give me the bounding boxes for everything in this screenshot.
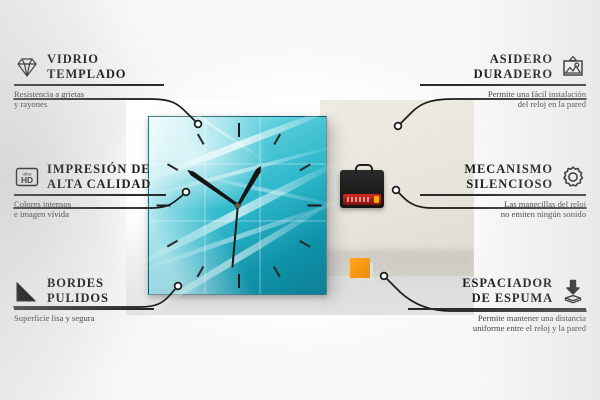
feature-title: VIDRIO TEMPLADO <box>47 52 126 81</box>
battery-label <box>347 197 371 202</box>
feature-divider <box>14 84 164 86</box>
feature-divider <box>420 194 586 196</box>
feature-title: IMPRESIÓN DE ALTA CALIDAD <box>47 162 151 191</box>
feature-mecanismo-silencioso: MECANISMO SILENCIOSO Las manecillas del … <box>420 162 586 219</box>
feature-title: ESPACIADOR DE ESPUMA <box>462 276 553 305</box>
clock-tick <box>196 134 203 145</box>
infographic-canvas: VIDRIO TEMPLADO Resistencia a grietas y … <box>0 0 600 400</box>
feature-divider <box>408 308 586 310</box>
clock-center-cap <box>235 203 240 208</box>
panel-grid-line <box>259 117 261 294</box>
mechanism-hanger-hook <box>355 164 373 174</box>
foam-spacer <box>350 258 370 278</box>
clock-tick <box>299 240 310 247</box>
clock-tick <box>238 274 240 288</box>
feature-divider <box>14 194 166 196</box>
gear-icon <box>560 164 586 190</box>
feature-bordes-pulidos: BORDES PULIDOS Superficie lisa y segura <box>14 276 154 323</box>
diamond-icon <box>14 54 40 80</box>
feature-subtitle: Superficie lisa y segura <box>14 313 154 323</box>
feature-impresion-alta-calidad: ultra HD IMPRESIÓN DE ALTA CALIDAD Color… <box>14 162 166 219</box>
foam-spacer-icon <box>560 278 586 304</box>
polished-edge-icon <box>14 278 40 304</box>
feature-divider <box>420 84 586 86</box>
clock-tick <box>273 134 280 145</box>
clock-tick <box>307 205 321 207</box>
clock-mechanism <box>340 170 384 208</box>
glass-clock-panel <box>148 116 327 295</box>
feature-title: BORDES PULIDOS <box>47 276 109 305</box>
battery-plus-terminal <box>374 196 379 203</box>
ultra-hd-icon: ultra HD <box>14 164 40 190</box>
clock-tick <box>273 266 280 277</box>
feature-divider <box>14 308 154 310</box>
feature-subtitle: Permite mantener una distancia uniforme … <box>408 313 586 334</box>
feature-title: MECANISMO SILENCIOSO <box>464 162 553 191</box>
mechanism-battery <box>343 194 381 205</box>
feature-subtitle: Colores intensos e imagen vívida <box>14 199 166 220</box>
feature-asidero-duradero: ASIDERO DURADERO Permite una fácil insta… <box>420 52 586 109</box>
svg-text:HD: HD <box>21 175 33 185</box>
feature-subtitle: Resistencia a grietas y rayones <box>14 89 164 110</box>
clock-tick <box>238 123 240 137</box>
feature-vidrio-templado: VIDRIO TEMPLADO Resistencia a grietas y … <box>14 52 164 109</box>
feature-title: ASIDERO DURADERO <box>474 52 553 81</box>
panel-grid-line <box>149 163 326 165</box>
feature-subtitle: Las manecillas del reloj no emiten ningú… <box>420 199 586 220</box>
feature-espaciador-espuma: ESPACIADOR DE ESPUMA Permite mantener un… <box>408 276 586 333</box>
feature-subtitle: Permite una fácil instalación del reloj … <box>420 89 586 110</box>
framed-picture-icon <box>560 54 586 80</box>
